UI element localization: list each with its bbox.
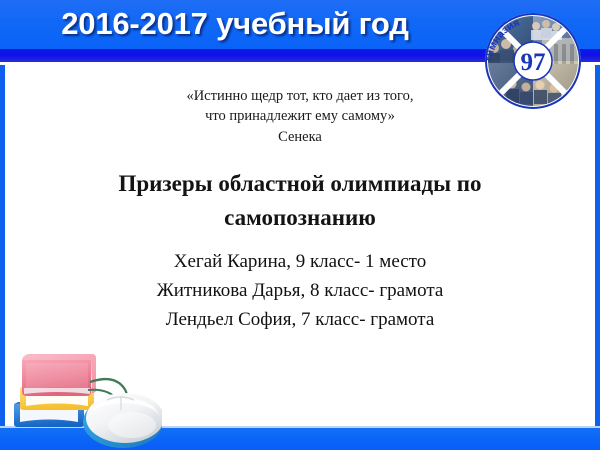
winners-list: Хегай Карина, 9 класс- 1 место Житникова…	[5, 247, 595, 334]
page-title: 2016-2017 учебный год	[0, 6, 470, 42]
book-pink	[22, 354, 96, 396]
computer-mouse	[83, 393, 162, 448]
books-and-mouse-illustration	[2, 330, 162, 450]
list-item: Хегай Карина, 9 класс- 1 место	[5, 247, 595, 276]
school-emblem-logo: 97 гимназия	[480, 8, 586, 114]
section-title: Призеры областной олимпиады по самопозна…	[5, 167, 595, 235]
slide-canvas: 2016-2017 учебный год	[0, 0, 600, 450]
quote-author: Сенека	[5, 127, 595, 147]
right-edge-border	[595, 0, 600, 450]
list-item: Житникова Дарья, 8 класс- грамота	[5, 276, 595, 305]
emblem-number: 97	[521, 49, 546, 76]
